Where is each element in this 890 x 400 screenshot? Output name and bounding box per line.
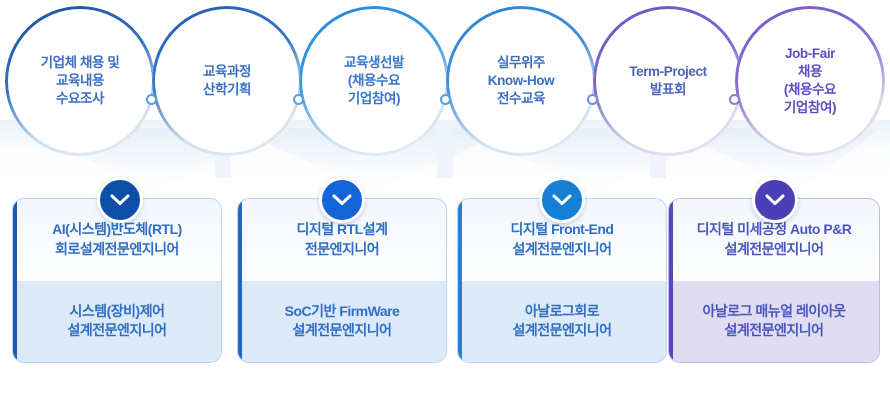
- process-step-4-label: 실무위주 Know-How 전수교육: [488, 54, 555, 107]
- process-step-2[interactable]: 교육과정 산학기획: [152, 6, 302, 156]
- process-diagram: 기업체 채용 및 교육내용 수요조사 교육과정 산학기획 교육생선발 (채용수요…: [0, 0, 890, 400]
- track-1-spine: [13, 199, 17, 362]
- process-step-3-label: 교육생선발 (채용수요 기업참여): [344, 54, 404, 107]
- chevron-down-icon: [110, 194, 130, 206]
- track-3-expand-button[interactable]: [539, 177, 585, 223]
- connector-node-2: [293, 94, 304, 105]
- chevron-down-icon: [332, 194, 352, 206]
- track-4-expand-button[interactable]: [752, 177, 798, 223]
- process-circle-row: 기업체 채용 및 교육내용 수요조사 교육과정 산학기획 교육생선발 (채용수요…: [0, 6, 890, 156]
- connector-node-3: [440, 94, 451, 105]
- chevron-down-icon: [552, 194, 572, 206]
- track-4-secondary-label: 아날로그 매뉴얼 레이아웃 설계전문엔지니어: [669, 281, 879, 363]
- track-2-expand-button[interactable]: [319, 177, 365, 223]
- track-3-secondary-label: 아날로그회로 설계전문엔지니어: [458, 281, 666, 363]
- process-step-6[interactable]: Job-Fair 채용 (채용수요 기업참여): [735, 6, 885, 156]
- process-step-3[interactable]: 교육생선발 (채용수요 기업참여): [299, 6, 449, 156]
- track-4-spine: [669, 199, 673, 362]
- process-step-5-label: Term-Project 발표회: [629, 63, 706, 99]
- process-step-2-label: 교육과정 산학기획: [203, 63, 251, 99]
- connector-node-1: [146, 94, 157, 105]
- track-1-expand-button[interactable]: [97, 177, 143, 223]
- track-3-spine: [458, 199, 462, 362]
- process-step-4[interactable]: 실무위주 Know-How 전수교육: [446, 6, 596, 156]
- track-1-secondary-label: 시스템(장비)제어 설계전문엔지니어: [13, 281, 221, 363]
- connector-node-5: [729, 94, 740, 105]
- chevron-down-icon: [765, 194, 785, 206]
- process-step-5[interactable]: Term-Project 발표회: [593, 6, 743, 156]
- connector-node-4: [587, 94, 598, 105]
- track-2-spine: [238, 199, 242, 362]
- track-2-secondary-label: SoC기반 FirmWare 설계전문엔지니어: [238, 281, 446, 363]
- process-step-1[interactable]: 기업체 채용 및 교육내용 수요조사: [5, 6, 155, 156]
- process-step-1-label: 기업체 채용 및 교육내용 수요조사: [41, 54, 120, 107]
- process-step-6-label: Job-Fair 채용 (채용수요 기업참여): [784, 45, 836, 116]
